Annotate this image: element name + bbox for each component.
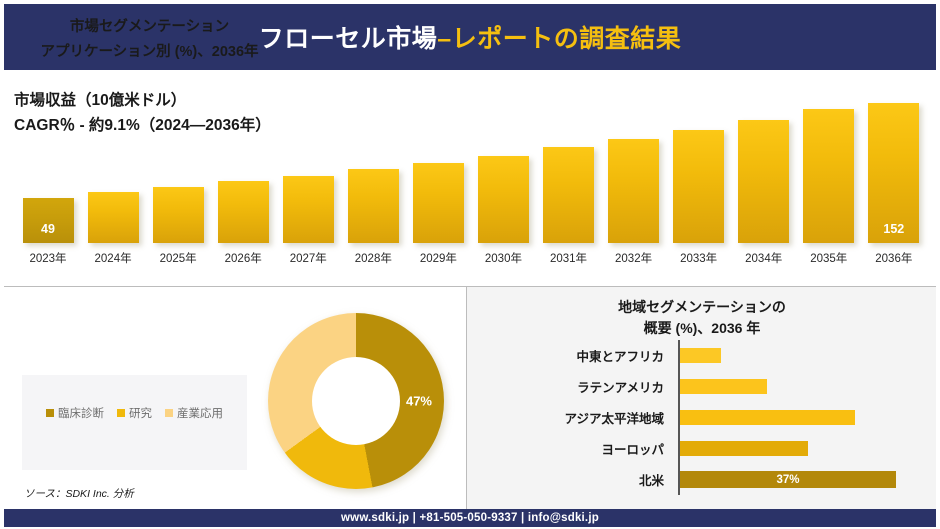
- bar-x-axis-label: 2032年: [608, 250, 660, 266]
- bar-x-axis-label: 2034年: [738, 250, 790, 266]
- bar-column: [477, 96, 529, 243]
- bar: [478, 156, 529, 243]
- bar-value-label: 152: [868, 222, 919, 236]
- bar: 49: [23, 198, 74, 243]
- region-bar-zone: [672, 343, 917, 369]
- page-title: フローセル市場–レポートの調査結果: [259, 19, 681, 55]
- legend-item: 臨床診断: [46, 405, 104, 421]
- bar: [673, 130, 724, 243]
- region-label: ラテンアメリカ: [507, 377, 672, 396]
- region-bar-zone: [672, 436, 917, 462]
- bar: 152: [868, 103, 919, 243]
- footer-banner: www.sdki.jp | +81-505-050-9337 | info@sd…: [4, 509, 936, 527]
- region-title-line-1: 地域セグメンテーションの: [618, 299, 786, 315]
- segmentation-legend: 臨床診断研究産業応用: [22, 375, 247, 470]
- region-segmentation-panel: 地域セグメンテーションの 概要 (%)、2036 年 中東とアフリカラテンアメリ…: [466, 287, 936, 509]
- bar: [738, 120, 789, 243]
- region-title: 地域セグメンテーションの 概要 (%)、2036 年: [467, 297, 937, 339]
- bar: [803, 109, 854, 243]
- page-title-accent: –レポートの調査結果: [437, 25, 681, 53]
- footer-contact-text: www.sdki.jp | +81-505-050-9337 | info@sd…: [341, 512, 599, 524]
- bar-column: [347, 96, 399, 243]
- region-label: 中東とアフリカ: [507, 346, 672, 365]
- market-revenue-bar-chart: 49152 2023年2024年2025年2026年2027年2028年2029…: [22, 96, 920, 271]
- legend-item: 産業応用: [165, 405, 223, 421]
- region-row: ラテンアメリカ: [507, 374, 917, 400]
- bar-x-axis-label: 2035年: [803, 250, 855, 266]
- legend-item: 研究: [117, 405, 152, 421]
- bar-x-axis-label: 2029年: [412, 250, 464, 266]
- legend-label: 研究: [129, 405, 152, 421]
- bar-column: [543, 96, 595, 243]
- bar: [283, 176, 334, 243]
- legend-label: 臨床診断: [58, 405, 104, 421]
- bar: [153, 187, 204, 243]
- bar-column: [608, 96, 660, 243]
- bar-x-axis: 2023年2024年2025年2026年2027年2028年2029年2030年…: [22, 245, 920, 271]
- legend-label: 産業応用: [177, 405, 223, 421]
- region-rows: 中東とアフリカラテンアメリカアジア太平洋地域ヨーロッパ北米37%: [507, 340, 917, 495]
- bar: [608, 139, 659, 243]
- region-row: ヨーロッパ: [507, 436, 917, 462]
- region-title-line-2: 概要 (%)、2036 年: [467, 318, 937, 339]
- bar-column: 152: [868, 96, 920, 243]
- bar-column: [738, 96, 790, 243]
- bar-x-axis-label: 2027年: [282, 250, 334, 266]
- region-label: 北米: [507, 470, 672, 489]
- bar-column: [282, 96, 334, 243]
- bar-x-axis-label: 2023年: [22, 250, 74, 266]
- bar-column: [217, 96, 269, 243]
- bar-column: [673, 96, 725, 243]
- region-bar-chart: 中東とアフリカラテンアメリカアジア太平洋地域ヨーロッパ北米37%: [507, 340, 917, 495]
- bar: [218, 181, 269, 243]
- region-row: 北米37%: [507, 467, 917, 493]
- region-bar: [680, 379, 767, 394]
- region-bar-zone: 37%: [672, 467, 917, 493]
- bar-column: [803, 96, 855, 243]
- bar-x-axis-label: 2025年: [152, 250, 204, 266]
- legend-swatch-icon: [46, 409, 54, 417]
- bar-x-axis-label: 2031年: [543, 250, 595, 266]
- donut-value-label: 47%: [406, 394, 432, 409]
- legend-swatch-icon: [165, 409, 173, 417]
- bar-column: 49: [22, 96, 74, 243]
- region-bar-zone: [672, 374, 917, 400]
- bar-x-axis-label: 2026年: [217, 250, 269, 266]
- region-row: 中東とアフリカ: [507, 343, 917, 369]
- bar: [348, 169, 399, 243]
- bar-column: [87, 96, 139, 243]
- bar-x-axis-label: 2024年: [87, 250, 139, 266]
- segmentation-legend-row: 臨床診断研究産業応用: [22, 405, 247, 421]
- region-bar-value-label: 37%: [680, 474, 896, 486]
- bar-column: [412, 96, 464, 243]
- bar: [543, 147, 594, 243]
- region-label: ヨーロッパ: [507, 439, 672, 458]
- region-row: アジア太平洋地域: [507, 405, 917, 431]
- bar: [88, 192, 139, 243]
- segmentation-title-line-2: アプリケーション別 (%)、2036年: [12, 40, 287, 65]
- bar-plot-area: 49152: [22, 96, 920, 243]
- application-donut-chart: 47%: [268, 313, 444, 489]
- bar-x-axis-label: 2030年: [477, 250, 529, 266]
- infographic-page: フローセル市場–レポートの調査結果 市場収益（10億米ドル） CAGR％ - 約…: [0, 0, 940, 529]
- legend-swatch-icon: [117, 409, 125, 417]
- region-bar: 37%: [680, 471, 896, 488]
- region-bar: [680, 348, 721, 363]
- region-bar-zone: [672, 405, 917, 431]
- bar: [413, 163, 464, 243]
- bar-x-axis-label: 2036年: [868, 250, 920, 266]
- region-label: アジア太平洋地域: [507, 408, 672, 427]
- source-note: ソース：SDKI Inc. 分析: [24, 486, 134, 501]
- bar-x-axis-label: 2028年: [347, 250, 399, 266]
- bar-x-axis-label: 2033年: [673, 250, 725, 266]
- segmentation-title: 市場セグメンテーション アプリケーション別 (%)、2036年: [12, 15, 287, 65]
- bar-value-label: 49: [23, 222, 74, 236]
- donut-hole: [312, 357, 400, 445]
- region-bar: [680, 410, 855, 425]
- bar-column: [152, 96, 204, 243]
- segmentation-title-line-1: 市場セグメンテーション: [70, 19, 229, 35]
- region-bar: [680, 441, 808, 456]
